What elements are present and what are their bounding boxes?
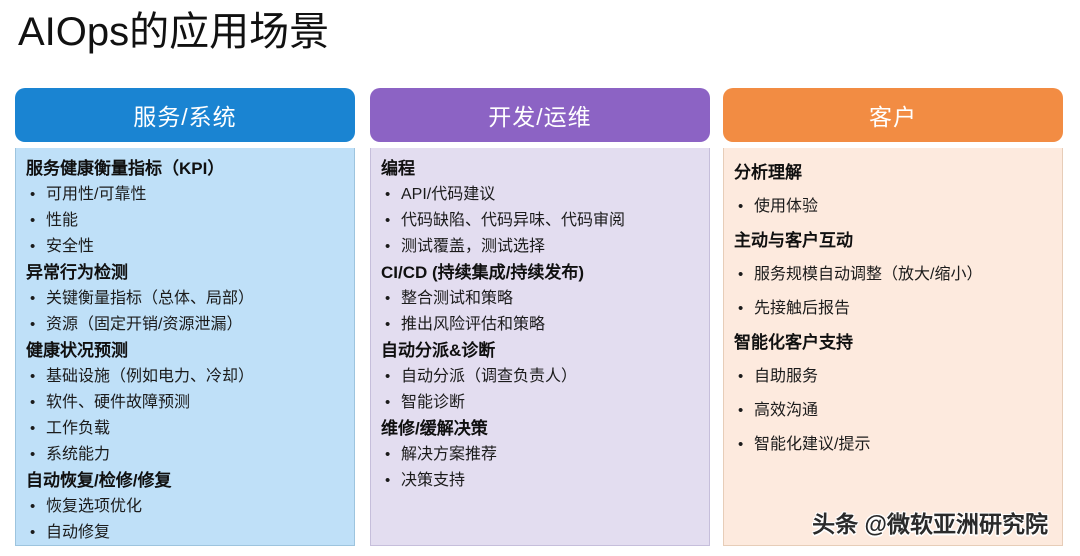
group-title: 异常行为检测 — [26, 260, 346, 286]
list-item-label: 代码缺陷、代码异味、代码审阅 — [401, 208, 701, 234]
bullet-list: • 整合测试和策略 • 推出风险评估和策略 — [381, 286, 701, 338]
list-item: • 先接触后报告 — [734, 292, 1054, 326]
list-item-label: 测试覆盖，测试选择 — [401, 234, 701, 260]
list-item: • 自助服务 — [734, 360, 1054, 394]
list-item: • 资源（固定开销/资源泄漏） — [26, 312, 346, 338]
bullet-dot-icon: • — [381, 182, 401, 208]
group-title: 维修/缓解决策 — [381, 416, 701, 442]
list-item: • 恢复选项优化 — [26, 494, 346, 520]
bullet-dot-icon: • — [381, 234, 401, 260]
list-item-label: 工作负载 — [46, 416, 346, 442]
group-title: CI/CD (持续集成/持续发布) — [381, 260, 701, 286]
bullet-dot-icon: • — [26, 390, 46, 416]
list-item: • 工作负载 — [26, 416, 346, 442]
list-item: • 决策支持 — [381, 468, 701, 494]
group-auto-recovery: 自动恢复/检修/修复 • 恢复选项优化 • 自动修复 — [26, 468, 346, 546]
group-kpi: 服务健康衡量指标（KPI） • 可用性/可靠性 • 性能 • 安全性 — [26, 156, 346, 260]
list-item-label: 解决方案推荐 — [401, 442, 701, 468]
bullet-dot-icon: • — [26, 520, 46, 546]
group-title: 健康状况预测 — [26, 338, 346, 364]
bullet-dot-icon: • — [734, 292, 754, 326]
list-item: • 整合测试和策略 — [381, 286, 701, 312]
column-header-customer[interactable]: 客户 — [723, 88, 1063, 142]
list-item-label: 性能 — [46, 208, 346, 234]
list-item-label: API/代码建议 — [401, 182, 701, 208]
list-item-label: 安全性 — [46, 234, 346, 260]
list-item-label: 恢复选项优化 — [46, 494, 346, 520]
bullet-dot-icon: • — [381, 312, 401, 338]
bullet-dot-icon: • — [26, 312, 46, 338]
column-body-customer: 分析理解 • 使用体验 主动与客户互动 • 服务规模自动调整（放大/缩小） — [723, 148, 1063, 546]
list-item-label: 自动分派（调查负责人） — [401, 364, 701, 390]
list-item: • 高效沟通 — [734, 394, 1054, 428]
list-item-label: 决策支持 — [401, 468, 701, 494]
group-title: 智能化客户支持 — [734, 326, 1054, 360]
bullet-dot-icon: • — [381, 364, 401, 390]
list-item: • 性能 — [26, 208, 346, 234]
list-item: • 系统能力 — [26, 442, 346, 468]
bullet-list: • 恢复选项优化 • 自动修复 — [26, 494, 346, 546]
bullet-list: • 基础设施（例如电力、冷却） • 软件、硬件故障预测 • 工作负载 • — [26, 364, 346, 468]
group-proactive-engagement: 主动与客户互动 • 服务规模自动调整（放大/缩小） • 先接触后报告 — [734, 224, 1054, 326]
list-item: • 智能化建议/提示 — [734, 428, 1054, 462]
list-item-label: 可用性/可靠性 — [46, 182, 346, 208]
list-item: • 测试覆盖，测试选择 — [381, 234, 701, 260]
bullet-list: • 服务规模自动调整（放大/缩小） • 先接触后报告 — [734, 258, 1054, 326]
list-item-label: 关键衡量指标（总体、局部） — [46, 286, 346, 312]
list-item-label: 推出风险评估和策略 — [401, 312, 701, 338]
slide-canvas: AIOps的应用场景 服务/系统 服务健康衡量指标（KPI） • 可用性/可靠性… — [0, 0, 1080, 556]
bullet-dot-icon: • — [26, 286, 46, 312]
list-item: • 服务规模自动调整（放大/缩小） — [734, 258, 1054, 292]
group-title: 分析理解 — [734, 156, 1054, 190]
group-intelligent-support: 智能化客户支持 • 自助服务 • 高效沟通 • 智能化建议/提示 — [734, 326, 1054, 462]
column-body-service-system: 服务健康衡量指标（KPI） • 可用性/可靠性 • 性能 • 安全性 — [15, 148, 355, 546]
bullet-dot-icon: • — [26, 494, 46, 520]
bullet-dot-icon: • — [734, 190, 754, 224]
bullet-dot-icon: • — [26, 416, 46, 442]
list-item: • 安全性 — [26, 234, 346, 260]
list-item: • 软件、硬件故障预测 — [26, 390, 346, 416]
bullet-list: • 解决方案推荐 • 决策支持 — [381, 442, 701, 494]
list-item-label: 整合测试和策略 — [401, 286, 701, 312]
group-anomaly-detection: 异常行为检测 • 关键衡量指标（总体、局部） • 资源（固定开销/资源泄漏） — [26, 260, 346, 338]
bullet-dot-icon: • — [734, 360, 754, 394]
list-item-label: 资源（固定开销/资源泄漏） — [46, 312, 346, 338]
group-title: 自动恢复/检修/修复 — [26, 468, 346, 494]
list-item-label: 自助服务 — [754, 360, 1054, 394]
group-health-prediction: 健康状况预测 • 基础设施（例如电力、冷却） • 软件、硬件故障预测 • 工作负 — [26, 338, 346, 468]
column-customer: 客户 分析理解 • 使用体验 主动与客户互动 • — [723, 88, 1063, 546]
list-item: • 自动修复 — [26, 520, 346, 546]
watermark: 头条 @微软亚洲研究院 — [812, 505, 1048, 539]
list-item: • 使用体验 — [734, 190, 1054, 224]
list-item: • 关键衡量指标（总体、局部） — [26, 286, 346, 312]
group-title: 编程 — [381, 156, 701, 182]
list-item: • 自动分派（调查负责人） — [381, 364, 701, 390]
bullet-dot-icon: • — [381, 442, 401, 468]
bullet-list: • 关键衡量指标（总体、局部） • 资源（固定开销/资源泄漏） — [26, 286, 346, 338]
column-body-dev-ops: 编程 • API/代码建议 • 代码缺陷、代码异味、代码审阅 • 测试覆盖，测试 — [370, 148, 710, 546]
bullet-list: • API/代码建议 • 代码缺陷、代码异味、代码审阅 • 测试覆盖，测试选择 — [381, 182, 701, 260]
column-service-system: 服务/系统 服务健康衡量指标（KPI） • 可用性/可靠性 • 性能 — [15, 88, 355, 546]
list-item-label: 先接触后报告 — [754, 292, 1054, 326]
bullet-dot-icon: • — [26, 234, 46, 260]
column-dev-ops: 开发/运维 编程 • API/代码建议 • 代码缺陷、代码异味、代码审阅 — [370, 88, 710, 546]
bullet-dot-icon: • — [381, 286, 401, 312]
bullet-dot-icon: • — [381, 208, 401, 234]
group-title: 主动与客户互动 — [734, 224, 1054, 258]
list-item-label: 系统能力 — [46, 442, 346, 468]
bullet-dot-icon: • — [26, 364, 46, 390]
list-item-label: 智能化建议/提示 — [754, 428, 1054, 462]
group-analysis-understanding: 分析理解 • 使用体验 — [734, 156, 1054, 224]
list-item: • 解决方案推荐 — [381, 442, 701, 468]
group-title: 服务健康衡量指标（KPI） — [26, 156, 346, 182]
list-item-label: 智能诊断 — [401, 390, 701, 416]
bullet-list: • 可用性/可靠性 • 性能 • 安全性 — [26, 182, 346, 260]
list-item-label: 自动修复 — [46, 520, 346, 546]
bullet-dot-icon: • — [734, 428, 754, 462]
list-item: • 代码缺陷、代码异味、代码审阅 — [381, 208, 701, 234]
group-auto-dispatch-diagnosis: 自动分派&诊断 • 自动分派（调查负责人） • 智能诊断 — [381, 338, 701, 416]
page-title: AIOps的应用场景 — [18, 2, 329, 62]
group-programming: 编程 • API/代码建议 • 代码缺陷、代码异味、代码审阅 • 测试覆盖，测试 — [381, 156, 701, 260]
list-item: • API/代码建议 — [381, 182, 701, 208]
bullet-list: • 自动分派（调查负责人） • 智能诊断 — [381, 364, 701, 416]
list-item: • 智能诊断 — [381, 390, 701, 416]
bullet-dot-icon: • — [381, 390, 401, 416]
group-repair-mitigation: 维修/缓解决策 • 解决方案推荐 • 决策支持 — [381, 416, 701, 494]
list-item-label: 使用体验 — [754, 190, 1054, 224]
bullet-list: • 自助服务 • 高效沟通 • 智能化建议/提示 — [734, 360, 1054, 462]
list-item: • 推出风险评估和策略 — [381, 312, 701, 338]
group-ci-cd: CI/CD (持续集成/持续发布) • 整合测试和策略 • 推出风险评估和策略 — [381, 260, 701, 338]
column-header-dev-ops[interactable]: 开发/运维 — [370, 88, 710, 142]
list-item-label: 基础设施（例如电力、冷却） — [46, 364, 346, 390]
bullet-dot-icon: • — [26, 208, 46, 234]
bullet-dot-icon: • — [26, 442, 46, 468]
bullet-dot-icon: • — [734, 394, 754, 428]
columns-container: 服务/系统 服务健康衡量指标（KPI） • 可用性/可靠性 • 性能 — [0, 88, 1080, 548]
group-title: 自动分派&诊断 — [381, 338, 701, 364]
list-item: • 基础设施（例如电力、冷却） — [26, 364, 346, 390]
list-item-label: 高效沟通 — [754, 394, 1054, 428]
column-header-service-system[interactable]: 服务/系统 — [15, 88, 355, 142]
list-item-label: 服务规模自动调整（放大/缩小） — [754, 258, 1054, 292]
list-item: • 可用性/可靠性 — [26, 182, 346, 208]
bullet-dot-icon: • — [734, 258, 754, 292]
bullet-dot-icon: • — [381, 468, 401, 494]
bullet-list: • 使用体验 — [734, 190, 1054, 224]
list-item-label: 软件、硬件故障预测 — [46, 390, 346, 416]
bullet-dot-icon: • — [26, 182, 46, 208]
